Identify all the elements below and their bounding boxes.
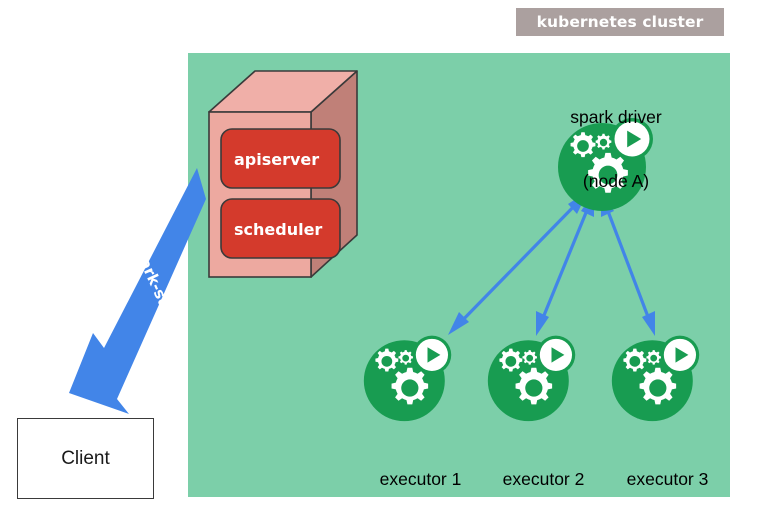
scheduler-chip-label: scheduler	[234, 220, 322, 239]
diagram-canvas: kubernetes cluster Client	[0, 0, 761, 516]
executor-2-node	[488, 336, 575, 422]
executor-1-node	[364, 336, 451, 422]
executor-3-caption: executor 3 (node B)	[590, 426, 745, 516]
executor-3-name: executor 3	[590, 469, 745, 490]
spark-driver-caption: spark driver (node A)	[521, 64, 711, 235]
control-plane-3d-box	[209, 71, 357, 277]
spark-submit-arrow	[69, 168, 206, 414]
executor-3-node	[612, 336, 699, 422]
spark-driver-node: (node A)	[521, 171, 711, 192]
spark-driver-name: spark driver	[521, 107, 711, 128]
apiserver-chip-label: apiserver	[234, 150, 319, 169]
